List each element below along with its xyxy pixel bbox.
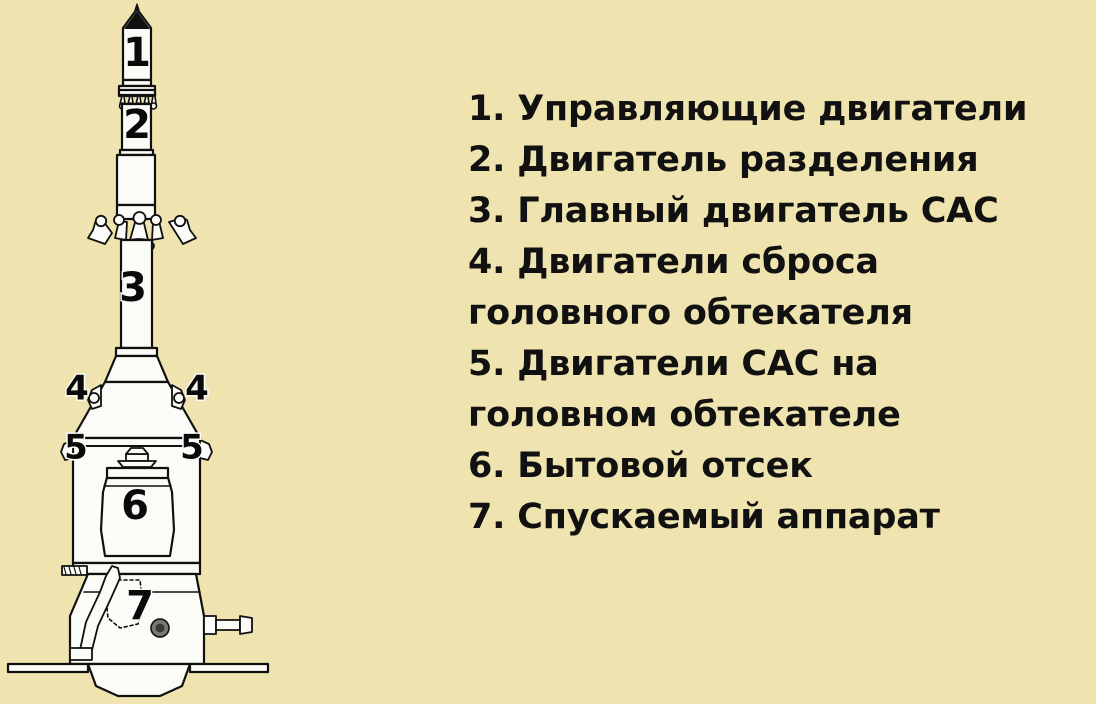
callout-5-left: 5 [64, 428, 88, 468]
side-nozzle [204, 616, 252, 634]
separation-ring-cap [119, 90, 155, 95]
orbital-module-collar [107, 468, 168, 478]
callout-7: 7 [126, 583, 154, 629]
callout-5-right: 5 [180, 428, 204, 468]
callout-6: 6 [121, 483, 149, 529]
legend-item-5: 5. Двигатели САС на головном обтекателе [468, 339, 1088, 441]
ground-bar-left [8, 664, 88, 672]
legend-list: 1. Управляющие двигатели 2. Двигатель ра… [468, 84, 1088, 543]
rocket-diagram: 1 2 3 4 4 5 5 6 7 [0, 0, 440, 704]
heat-shield [88, 664, 190, 696]
payload-fairing-upper-taper [105, 356, 168, 382]
callout-2: 2 [123, 102, 151, 148]
separation-plane [73, 563, 200, 574]
lower-shaft-collar [116, 348, 157, 356]
legend-item-2: 2. Двигатель разделения [468, 135, 1088, 186]
legend-item-3: 3. Главный двигатель САС [468, 186, 1088, 237]
callout-4-right: 4 [185, 369, 209, 409]
legend-item-6: 6. Бытовой отсек [468, 441, 1088, 492]
ground-bar-right [190, 664, 268, 672]
legend-item-7: 7. Спускаемый аппарат [468, 492, 1088, 543]
callout-1: 1 [123, 30, 151, 76]
diagram-page: 1 2 3 4 4 5 5 6 7 1. Управляющие двигате… [0, 0, 1096, 704]
mid-tower-shaft [117, 155, 155, 205]
legend-item-1: 1. Управляющие двигатели [468, 84, 1088, 135]
callout-3: 3 [119, 265, 147, 311]
callout-4-left: 4 [65, 369, 89, 409]
legend-item-4: 4. Двигатели сброса головного обтекателя [468, 237, 1088, 339]
rocket-diagram-panel: 1 2 3 4 4 5 5 6 7 [0, 0, 440, 704]
